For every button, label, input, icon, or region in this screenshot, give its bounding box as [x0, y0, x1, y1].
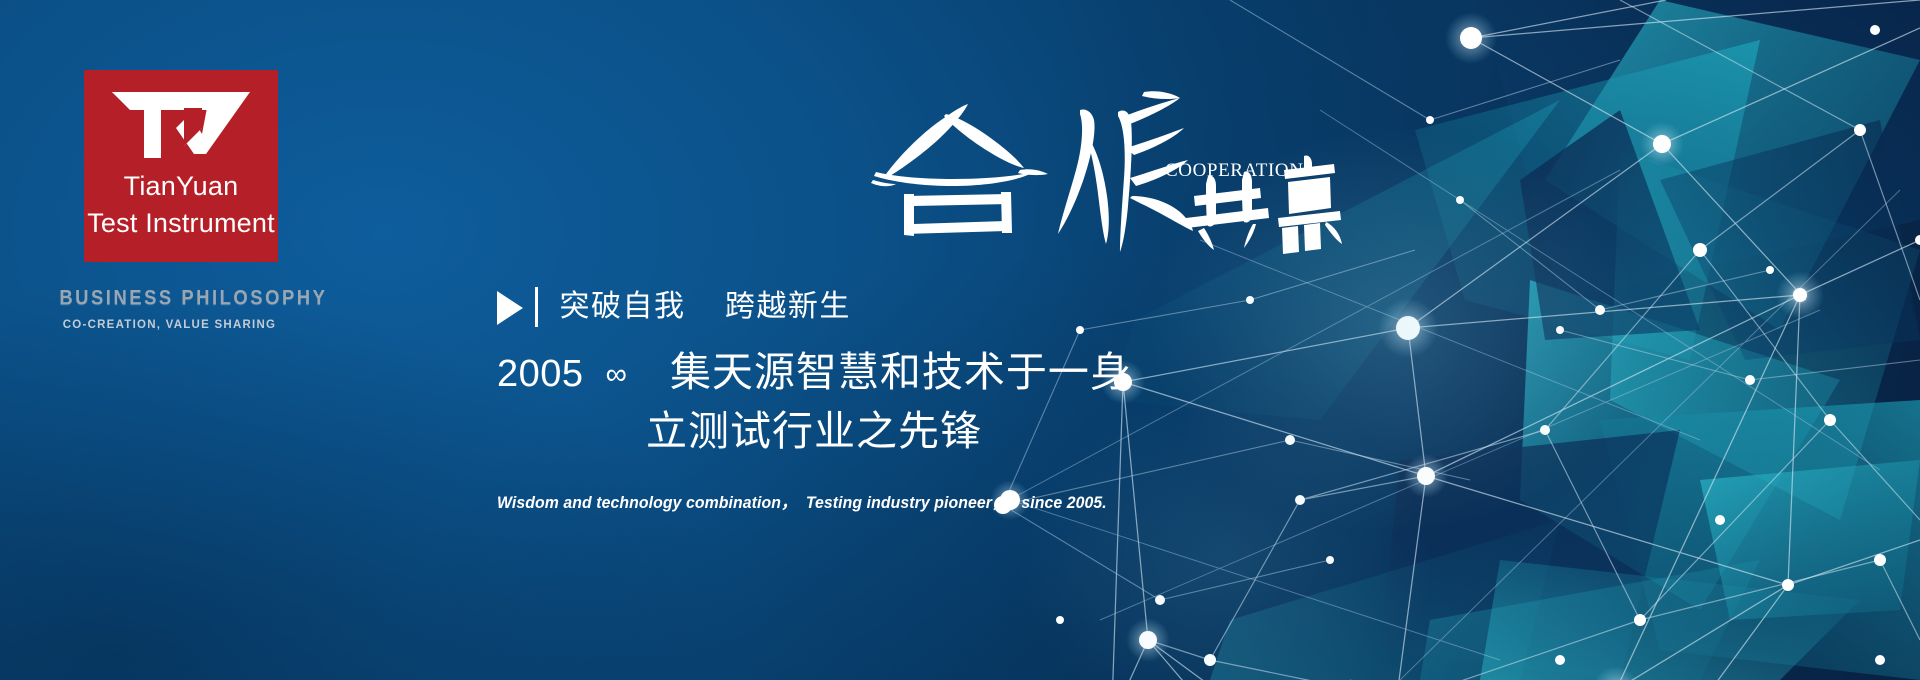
philosophy-subtitle: CO-CREATION, VALUE SHARING [61, 319, 278, 332]
ty-monogram-icon [106, 88, 256, 166]
headline-block: 突破自我 跨越新生 2005 ∞ 集天源智慧和技术于一身 立测试行业之先锋 [497, 283, 1217, 452]
company-logo-block: TianYuan Test Instrument BUSINESS PHILOS… [84, 70, 278, 331]
headline-primary-row: 2005 ∞ 集天源智慧和技术于一身 [497, 352, 1217, 393]
slogan-text: 突破自我 跨越新生 [560, 292, 851, 322]
play-triangle-icon [497, 291, 523, 325]
logo-card: TianYuan Test Instrument [84, 70, 278, 262]
headline-secondary-row: 立测试行业之先锋 [646, 411, 1217, 452]
headline-line1: 集天源智慧和技术于一身 [670, 352, 1132, 393]
philosophy-block: BUSINESS PHILOSOPHY CO-CREATION, VALUE S… [84, 288, 278, 331]
logo-name-line2: Test Instrument [87, 210, 275, 237]
philosophy-title: BUSINESS PHILOSOPHY [59, 287, 274, 312]
logo-name-line1: TianYuan [124, 173, 239, 200]
cooperation-label: COOPERATION [1165, 160, 1304, 182]
divider-bar [535, 287, 538, 327]
english-tagline: Wisdom and technology combination， Testi… [497, 488, 1107, 513]
headline-line2: 立测试行业之先锋 [646, 408, 982, 454]
infinity-symbol: ∞ [606, 360, 627, 390]
founding-year: 2005 [497, 355, 584, 393]
slogan-row: 突破自我 跨越新生 [497, 283, 1217, 331]
promo-banner: TianYuan Test Instrument BUSINESS PHILOS… [0, 0, 1920, 680]
